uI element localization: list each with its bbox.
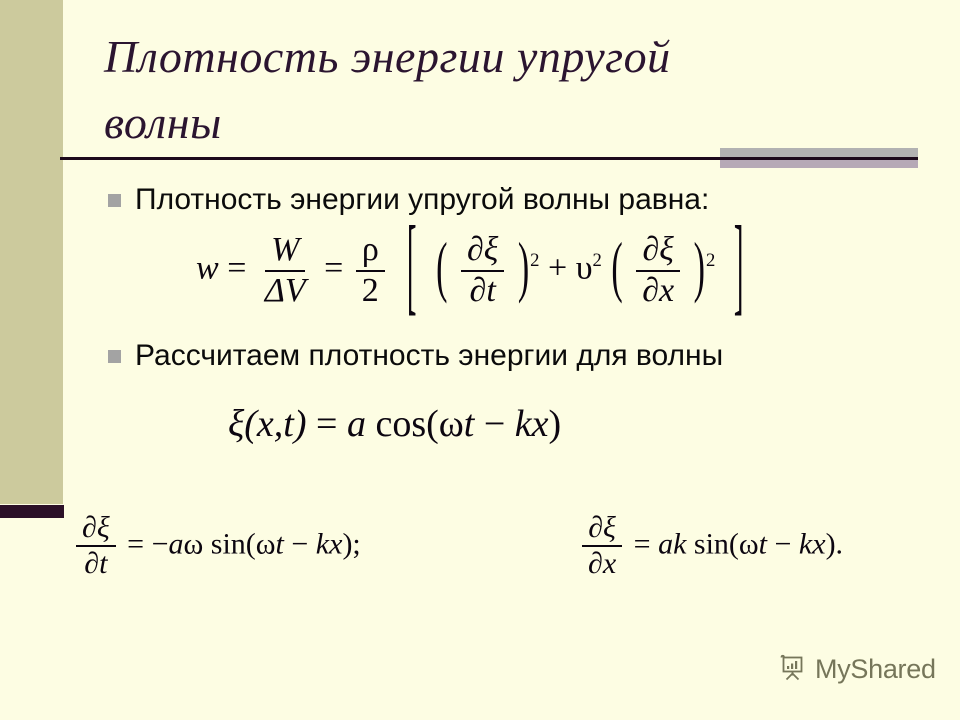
paren-open-2: ( [611,231,622,307]
energy-density-formula: w = W ΔV = ρ 2 [ ( ∂ξ ∂t )2 + υ2 ( ∂ξ ∂x… [196,232,753,309]
formula-lhs-w: w [196,250,219,287]
formula-equals-1: = [227,250,246,287]
dxi-dx-equals: = [634,527,651,560]
dxi-dx-wavenumber-k-coef: k [673,527,686,560]
fraction-denominator-deltaV: ΔV [259,272,312,310]
bullet-item-2: Рассчитаем плотность энергии для волны [108,339,723,374]
dxi-dt-omega: ω [184,527,204,560]
dxi-dx-minus: − [774,527,791,560]
wave-equals: = [316,403,337,445]
flipchart-chart-icon [778,652,808,687]
fraction-dxi-over-dt: ∂ξ ∂t [461,232,504,309]
square-bullet-icon [108,194,121,207]
wave-cos: cos( [375,403,438,445]
slide-canvas: Плотность энергии упругой волны Плотност… [0,0,960,720]
fraction-numerator-rho: ρ [356,232,385,272]
slide-title-line-2: волны [104,97,222,148]
paren-close-1: ) [518,231,529,307]
dxi-dx-omega: ω [739,527,759,560]
partial-xi-partial-t-formula: ∂ξ ∂t = −aω sin(ωt − kx); [72,512,361,581]
fraction-numerator-dxi-2: ∂ξ [636,232,679,272]
dxi-dt-wavenumber-k: k [316,527,329,560]
fraction-denominator-dx: ∂x [636,272,680,310]
exponent-2-first: 2 [530,250,539,271]
dxi-dx-variable-t: t [759,527,767,560]
partial-xi-partial-x-formula: ∂ξ ∂x = ak sin(ωt − kx). [578,512,843,581]
dxi-dx-variable-x: x [812,527,825,560]
dxi-dx-amplitude: a [658,527,673,560]
wave-amplitude: a [347,403,366,445]
wave-xi-symbol: ξ [228,403,244,445]
wave-arguments: (x,t) [244,403,306,445]
title-rule-line [60,157,918,160]
left-accent-dark-bar [0,505,64,518]
fraction-numerator-W: W [265,232,305,272]
paren-close-2: ) [694,231,705,307]
fraction-W-over-deltaV: W ΔV [259,232,312,309]
wave-wavenumber-k: k [515,403,532,445]
velocity-symbol: υ [576,250,593,287]
wave-minus: − [484,403,505,445]
fraction-dxi-dt: ∂ξ ∂t [76,512,116,581]
formula-equals-2: = [324,250,343,287]
square-bullet-icon [108,350,121,363]
dxi-dt-denominator: ∂t [78,547,113,580]
dxi-dt-equals: = [127,527,144,560]
slide-title: Плотность энергии упругой волны [104,24,824,156]
dxi-dx-close: ). [826,527,844,560]
wave-equation-formula: ξ(x,t) = a cos(ωt − kx) [228,402,561,446]
title-rule-gray-block-lower [720,160,918,168]
dxi-dt-minus-sign: − [152,527,169,560]
fraction-numerator-dxi-1: ∂ξ [461,232,504,272]
dxi-dt-variable-t: t [276,527,284,560]
wave-close-paren: ) [549,403,562,445]
dxi-dx-wavenumber-k: k [799,527,812,560]
wave-omega: ω [439,403,464,445]
wave-variable-x: x [532,403,549,445]
dxi-dt-minus: − [291,527,308,560]
dxi-dt-variable-x: x [329,527,342,560]
bracket-open: [ [407,208,417,330]
dxi-dx-numerator: ∂ξ [582,512,622,547]
bullet-item-1-label: Плотность энергии упругой волны равна: [135,183,709,218]
bracket-close: ] [734,208,744,330]
formula-plus: + [548,250,567,287]
dxi-dt-omega-arg: ω [256,527,276,560]
fraction-rho-over-2: ρ 2 [356,232,385,309]
dxi-dx-sin: sin( [694,527,739,560]
paren-open-1: ( [436,231,447,307]
fraction-dxi-dx: ∂ξ ∂x [582,512,622,581]
wave-variable-t: t [464,403,475,445]
myshared-watermark: MyShared [778,652,936,687]
dxi-dt-numerator: ∂ξ [76,512,116,547]
fraction-denominator-dt: ∂t [464,272,502,310]
velocity-exponent-2: 2 [593,250,602,271]
fraction-dxi-over-dx: ∂ξ ∂x [636,232,680,309]
slide-title-line-1: Плотность энергии упругой [104,31,671,82]
bullet-item-2-label: Рассчитаем плотность энергии для волны [135,339,723,374]
dxi-dt-close: ); [342,527,360,560]
dxi-dt-amplitude: a [169,527,184,560]
exponent-2-second: 2 [706,250,715,271]
dxi-dt-sin: sin( [211,527,256,560]
myshared-watermark-label: MyShared [815,654,936,685]
left-accent-band [0,0,63,504]
fraction-denominator-2: 2 [356,272,385,310]
dxi-dx-denominator: ∂x [582,547,622,580]
